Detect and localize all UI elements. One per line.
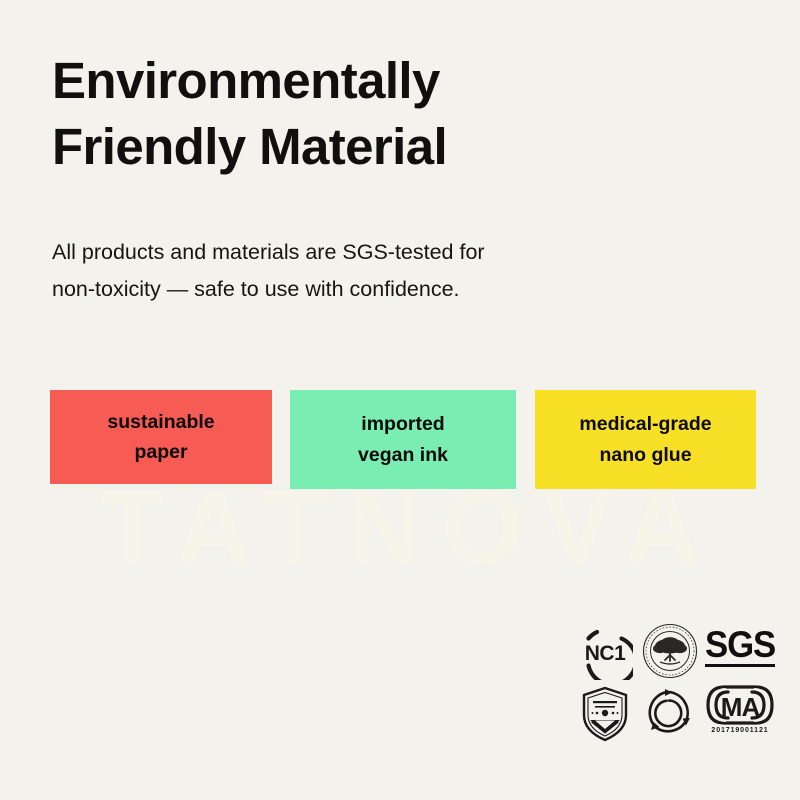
poster-canvas: TATNOVA Environmentally Friendly Materia… (0, 0, 800, 800)
material-tag-1-line-1: sustainable (107, 407, 214, 437)
nc1-icon: NC1 (577, 624, 633, 680)
cma-certificate-number: 201719001121 (704, 727, 776, 734)
sgs-icon: SGS (705, 628, 780, 667)
material-tag-imported-vegan-ink: imported vegan ink (290, 390, 516, 489)
material-tag-medical-grade-nano-glue: medical-grade nano glue (535, 390, 756, 489)
material-tag-group: sustainable paper imported vegan ink med… (50, 390, 756, 492)
cma-icon: MA 201719001121 (704, 684, 776, 734)
page-title-line-2: Friendly Material (52, 114, 692, 180)
svg-text:MA: MA (721, 692, 761, 722)
certification-logo-grid: NC1 (575, 622, 777, 746)
material-tag-1-line-2: paper (134, 437, 187, 467)
page-title: Environmentally Friendly Material (52, 48, 692, 181)
material-tag-3-line-1: medical-grade (579, 409, 711, 439)
svg-text:NC1: NC1 (585, 642, 626, 665)
page-title-line-1: Environmentally (52, 48, 692, 114)
material-tag-sustainable-paper: sustainable paper (50, 390, 272, 484)
sgs-wordmark: SGS (705, 628, 775, 662)
tree-seal-icon (641, 622, 699, 680)
material-tag-2-line-1: imported (361, 409, 444, 439)
material-tag-2-line-2: vegan ink (358, 440, 448, 470)
page-description-line-2: non-toxicity — safe to use with confiden… (52, 271, 652, 308)
recycle-icon (641, 685, 697, 741)
material-tag-3-line-2: nano glue (599, 440, 691, 470)
page-description: All products and materials are SGS-teste… (52, 234, 652, 308)
shield-icon (579, 685, 631, 743)
page-description-line-1: All products and materials are SGS-teste… (52, 234, 652, 271)
